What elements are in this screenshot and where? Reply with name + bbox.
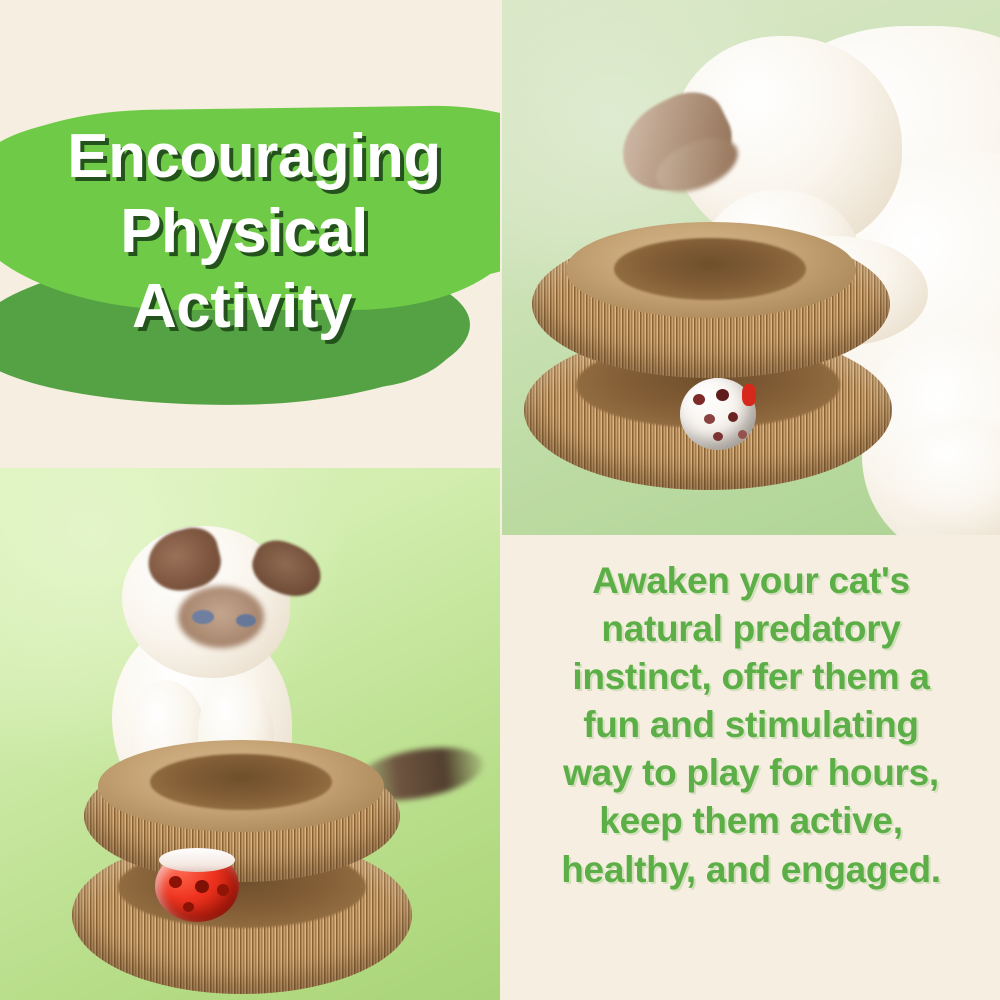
ball-hole xyxy=(713,432,723,441)
ball-hole xyxy=(704,414,715,424)
kitten-eye-right xyxy=(236,614,256,627)
body-line-4: fun and stimulating xyxy=(516,701,986,749)
body-line-7: healthy, and engaged. xyxy=(516,846,986,894)
toy-ball xyxy=(680,378,756,450)
ball-red-edge xyxy=(742,384,756,406)
brush-stroke-light-tail xyxy=(0,120,500,310)
description-panel: Awaken your cat's natural predatory inst… xyxy=(502,535,1000,1000)
ball-hole xyxy=(693,394,705,405)
body-line-1: Awaken your cat's xyxy=(516,557,986,605)
kitten-eye-left xyxy=(192,610,214,624)
ball-hole xyxy=(169,876,182,888)
ball-hole xyxy=(217,884,229,896)
toy-ring-upper-hollow xyxy=(150,754,332,810)
body-line-3: instinct, offer them a xyxy=(516,653,986,701)
body-line-5: way to play for hours, xyxy=(516,749,986,797)
body-line-6: keep them active, xyxy=(516,797,986,845)
product-marketing-poster: Encouraging Physical Activity xyxy=(0,0,1000,1000)
headline-panel: Encouraging Physical Activity xyxy=(0,0,500,468)
ball-hole xyxy=(716,389,729,401)
ball-hole xyxy=(738,430,747,439)
photo-cat-pawing-toy xyxy=(502,0,1000,535)
ball-hole xyxy=(728,412,738,422)
body-line-2: natural predatory xyxy=(516,605,986,653)
toy-ring-upper-hollow xyxy=(614,238,806,300)
ball-hole xyxy=(183,902,194,912)
toy-ball xyxy=(155,850,239,922)
photo-kitten-with-toy xyxy=(0,468,500,1000)
description-text: Awaken your cat's natural predatory inst… xyxy=(516,557,986,894)
ball-hole xyxy=(195,880,209,893)
ball-white-band xyxy=(159,848,235,872)
